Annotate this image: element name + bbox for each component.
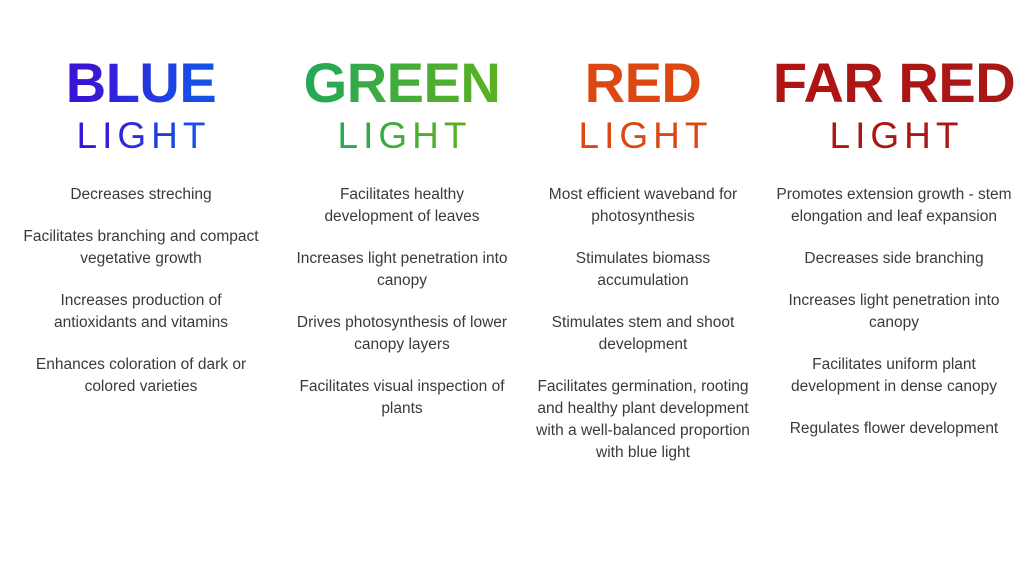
list-item: Decreases side branching [804, 248, 983, 270]
list-item: Facilitates branching and compact vegeta… [22, 226, 260, 270]
heading-blue-light-main: BLUE [66, 55, 216, 111]
bullet-list-blue-light: Decreases streching Facilitates branchin… [0, 184, 282, 398]
heading-block-blue-light: BLUE LIGHT [66, 55, 216, 158]
heading-far-red-light-main: FAR RED [773, 55, 1015, 111]
list-item: Increases light penetration into canopy [772, 290, 1016, 334]
bullet-list-green-light: Facilitates healthy development of leave… [282, 184, 522, 420]
column-green-light: GREEN LIGHT Facilitates healthy developm… [282, 0, 522, 420]
bullet-list-red-light: Most efficient waveband for photosynthes… [522, 184, 764, 464]
heading-red-light-sub: LIGHT [574, 115, 713, 158]
column-far-red-light: FAR RED LIGHT Promotes extension growth … [764, 0, 1024, 440]
list-item: Increases light penetration into canopy [294, 248, 510, 292]
list-item: Enhances coloration of dark or colored v… [22, 354, 260, 398]
list-item: Most efficient waveband for photosynthes… [530, 184, 756, 228]
list-item: Facilitates uniform plant development in… [772, 354, 1016, 398]
list-item: Stimulates biomass accumulation [530, 248, 756, 292]
list-item: Drives photosynthesis of lower canopy la… [294, 312, 510, 356]
heading-block-red-light: RED LIGHT [574, 55, 713, 158]
heading-block-green-light: GREEN LIGHT [304, 55, 501, 158]
heading-green-light-main: GREEN [304, 55, 501, 111]
list-item: Increases production of antioxidants and… [22, 290, 260, 334]
list-item: Promotes extension growth - stem elongat… [772, 184, 1016, 228]
heading-red-light-main: RED [585, 55, 702, 111]
list-item: Facilitates healthy development of leave… [294, 184, 510, 228]
list-item: Facilitates visual inspection of plants [294, 376, 510, 420]
light-spectrum-infographic: BLUE LIGHT Decreases streching Facilitat… [0, 0, 1024, 576]
bullet-list-far-red-light: Promotes extension growth - stem elongat… [764, 184, 1024, 440]
heading-block-far-red-light: FAR RED LIGHT [773, 55, 1015, 158]
list-item: Facilitates germination, rooting and hea… [530, 376, 756, 464]
list-item: Stimulates stem and shoot development [530, 312, 756, 356]
heading-far-red-light-sub: LIGHT [825, 115, 964, 158]
list-item: Regulates flower development [790, 418, 999, 440]
heading-green-light-sub: LIGHT [333, 115, 472, 158]
column-red-light: RED LIGHT Most efficient waveband for ph… [522, 0, 764, 464]
list-item: Decreases streching [70, 184, 211, 206]
column-blue-light: BLUE LIGHT Decreases streching Facilitat… [0, 0, 282, 398]
heading-blue-light-sub: LIGHT [72, 115, 211, 158]
